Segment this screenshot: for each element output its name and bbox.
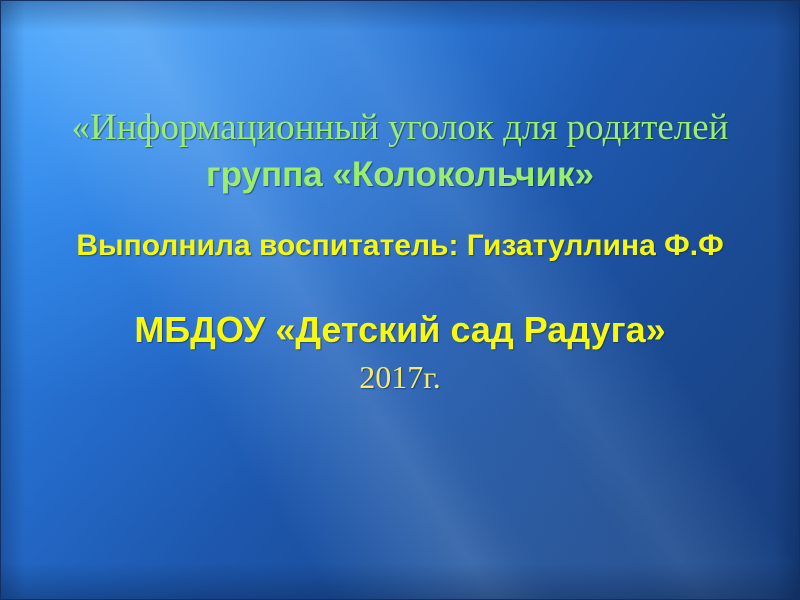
presentation-slide: «Информационный уголок для родителей гру…	[0, 0, 800, 600]
slide-organization-line: МБДОУ «Детский сад Радуга»	[1, 312, 799, 348]
slide-vignette	[1, 1, 799, 599]
slide-title-line-1: «Информационный уголок для родителей	[1, 109, 799, 146]
slide-title-line-2: группа «Колокольчик»	[1, 157, 799, 192]
slide-year-line: 2017г.	[1, 361, 799, 393]
slide-author-line: Выполнила воспитатель: Гизатуллина Ф.Ф	[1, 231, 799, 261]
